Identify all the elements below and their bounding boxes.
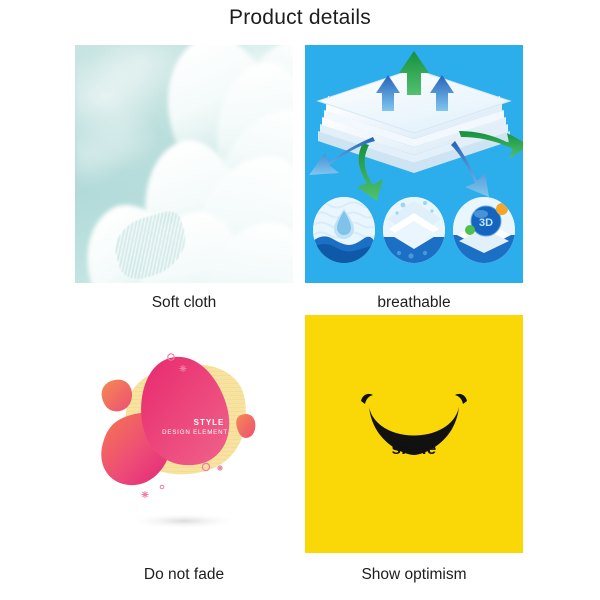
blob-shadow — [128, 513, 240, 529]
smile-word: smile — [305, 439, 523, 459]
feature-inset-row: 3D — [313, 197, 515, 275]
smile-curve-icon — [305, 315, 523, 553]
three-d-sphere-icon: 3D — [453, 197, 515, 263]
blob-orange-small — [102, 380, 132, 412]
deco-dot — [160, 485, 164, 489]
caption-do-not-fade: Do not fade — [75, 565, 293, 585]
caption-soft-cloth: Soft cloth — [75, 293, 293, 313]
product-details-page: Product details Soft cloth — [0, 0, 600, 600]
deco-sparkle — [180, 365, 187, 372]
deco-sparkle — [142, 491, 149, 498]
detail-cell-show-optimism[interactable]: smile Show optimism — [305, 315, 523, 585]
detail-cell-breathable[interactable]: 3D breathable — [305, 45, 523, 313]
layered-fabric-illustration — [305, 45, 523, 205]
smile-graphic: smile — [305, 315, 523, 553]
water-droplet-icon — [313, 197, 375, 263]
svg-text:3D: 3D — [479, 217, 493, 229]
detail-cell-soft-cloth[interactable]: Soft cloth — [75, 45, 293, 313]
caption-show-optimism: Show optimism — [305, 565, 523, 585]
blob-overlay-subtitle: DESIGN ELEMENT — [162, 429, 228, 436]
fluid-blob-design-element: STYLE DESIGN ELEMENT — [75, 315, 293, 553]
product-detail-grid: Soft cloth — [0, 45, 600, 590]
detail-cell-do-not-fade[interactable]: STYLE DESIGN ELEMENT Do not fade — [75, 315, 293, 585]
blob-overlay-title: STYLE — [194, 418, 225, 427]
caption-breathable: breathable — [305, 293, 523, 313]
page-title: Product details — [0, 6, 600, 30]
soft-feathers-photo — [75, 45, 293, 283]
breathable-layers-diagram: 3D — [305, 45, 523, 283]
layered-sheet-bubbles-icon — [383, 197, 445, 263]
